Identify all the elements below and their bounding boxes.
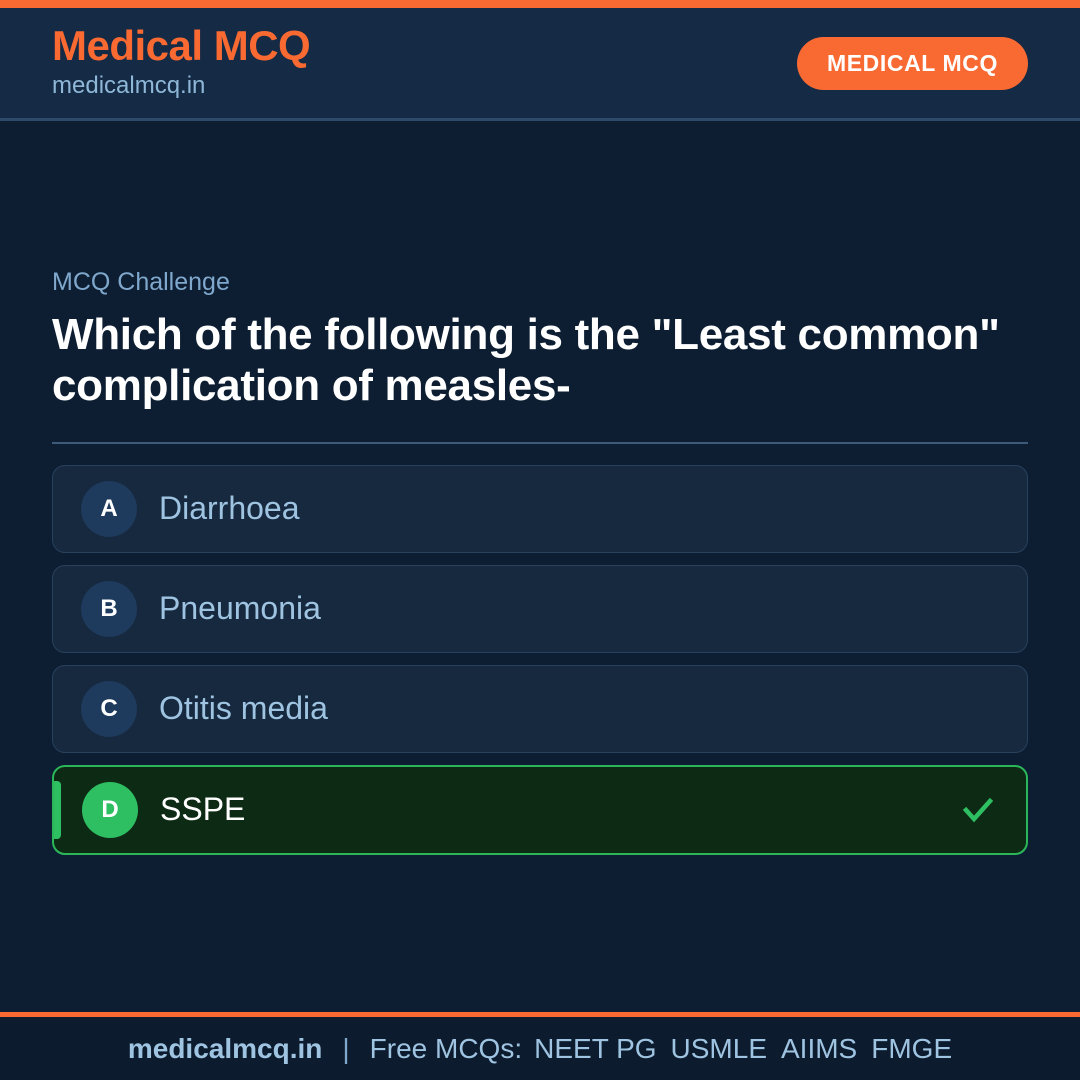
footer-exam-fmge: FMGE xyxy=(871,1033,952,1065)
top-accent-bar xyxy=(0,0,1080,8)
option-label-a: Diarrhoea xyxy=(159,491,300,526)
option-row-d[interactable]: D SSPE xyxy=(52,765,1028,855)
footer-content: medicalmcq.in | Free MCQs: NEET PG USMLE… xyxy=(128,1033,952,1065)
option-badge-a: A xyxy=(81,481,137,537)
option-badge-d: D xyxy=(82,782,138,838)
option-row-c[interactable]: C Otitis media xyxy=(52,665,1028,753)
footer-exam-aiims: AIIMS xyxy=(781,1033,857,1065)
header-bar: Medical MCQ medicalmcq.in MEDICAL MCQ xyxy=(0,8,1080,121)
question-kicker: MCQ Challenge xyxy=(52,267,1028,297)
option-label-b: Pneumonia xyxy=(159,591,321,626)
main-content: MCQ Challenge Which of the following is … xyxy=(0,121,1080,1012)
question-area: MCQ Challenge Which of the following is … xyxy=(52,267,1028,412)
header-badge: MEDICAL MCQ xyxy=(797,37,1028,90)
mcq-card: Medical MCQ medicalmcq.in MEDICAL MCQ MC… xyxy=(0,0,1080,1080)
option-badge-c: C xyxy=(81,681,137,737)
footer-label: Free MCQs: xyxy=(370,1033,522,1065)
checkmark-icon xyxy=(958,790,998,830)
option-row-b[interactable]: B Pneumonia xyxy=(52,565,1028,653)
footer-separator: | xyxy=(342,1033,349,1065)
footer-exam-usmle: USMLE xyxy=(671,1033,767,1065)
question-divider xyxy=(52,442,1028,444)
brand-block: Medical MCQ medicalmcq.in xyxy=(52,23,310,102)
footer-site: medicalmcq.in xyxy=(128,1033,323,1065)
option-label-c: Otitis media xyxy=(159,691,328,726)
brand-title: Medical MCQ xyxy=(52,23,310,68)
correct-accent-bar xyxy=(54,781,61,839)
options-list: A Diarrhoea B Pneumonia C Otitis media D… xyxy=(52,465,1028,855)
option-row-a[interactable]: A Diarrhoea xyxy=(52,465,1028,553)
brand-subtitle: medicalmcq.in xyxy=(52,70,310,101)
footer-bar: medicalmcq.in | Free MCQs: NEET PG USMLE… xyxy=(0,1012,1080,1080)
option-label-d: SSPE xyxy=(160,792,245,827)
question-text: Which of the following is the "Least com… xyxy=(52,309,1012,412)
footer-exam-neetpg: NEET PG xyxy=(534,1033,656,1065)
option-badge-b: B xyxy=(81,581,137,637)
